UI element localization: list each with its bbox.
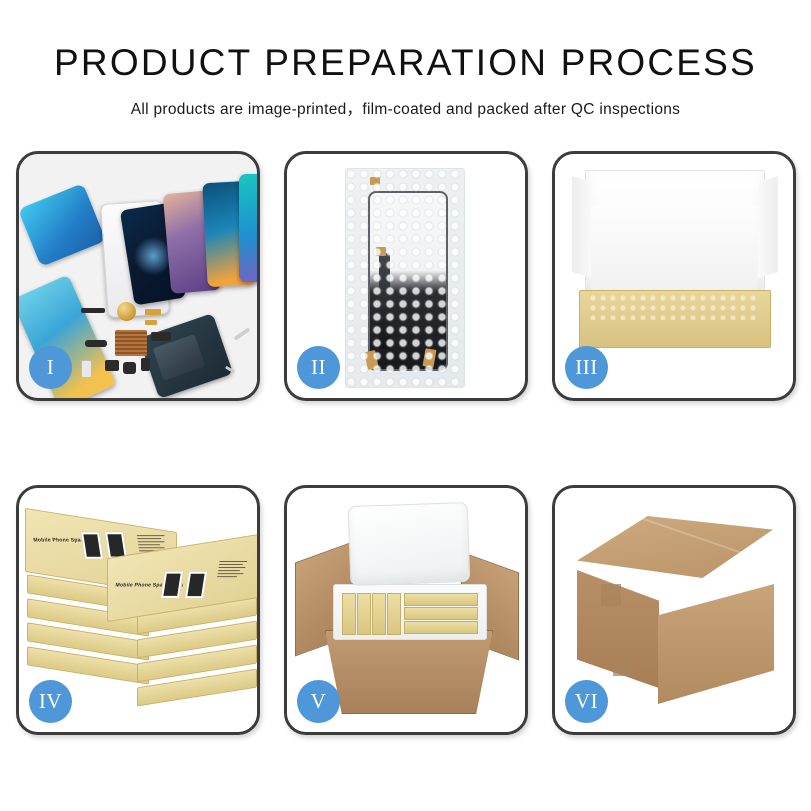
step-4-image: Mobile Phone Spare Parts Mobile Phone Sp… xyxy=(19,488,257,732)
packed-box-1 xyxy=(342,593,356,635)
small-board-component xyxy=(81,360,92,378)
box-thumbnail-2a xyxy=(160,571,184,599)
packed-box-6 xyxy=(404,607,478,620)
step-3-image: III xyxy=(555,154,793,398)
step-badge-1: I xyxy=(29,346,72,389)
sim-tray-component xyxy=(141,358,150,371)
process-step-6[interactable]: VI xyxy=(552,485,796,735)
process-step-grid: I II III xyxy=(16,151,796,735)
step-badge-6: VI xyxy=(565,680,608,723)
page-title: PRODUCT PREPARATION PROCESS xyxy=(0,44,811,83)
carton-top-face xyxy=(577,516,773,578)
screen-protector-film xyxy=(19,183,106,267)
flex-cable-1 xyxy=(145,309,161,315)
process-step-1[interactable]: I xyxy=(16,151,260,401)
carton-tape-patch-bottom xyxy=(613,660,633,676)
process-step-3[interactable]: III xyxy=(552,151,796,401)
packed-box-3 xyxy=(372,593,386,635)
packed-box-7 xyxy=(404,621,478,634)
speaker-component xyxy=(117,302,136,321)
step-2-image: II xyxy=(287,154,525,398)
process-step-2[interactable]: II xyxy=(284,151,528,401)
flex-cable-2 xyxy=(145,320,157,325)
page-subtitle: All products are image-printed，film-coat… xyxy=(0,97,811,119)
packed-box-4 xyxy=(387,593,401,635)
step-1-image: I xyxy=(19,154,257,398)
process-step-5[interactable]: V xyxy=(284,485,528,735)
camera-module xyxy=(105,360,119,371)
connector-component-1 xyxy=(85,340,107,347)
carton-right-face xyxy=(658,584,774,704)
page-header: PRODUCT PREPARATION PROCESS All products… xyxy=(0,0,811,119)
bubble-texture xyxy=(346,169,464,387)
packed-box-2 xyxy=(357,593,371,635)
connector-component-2 xyxy=(151,332,171,341)
step-badge-2: II xyxy=(297,346,340,389)
phone-teal-display xyxy=(239,174,257,282)
process-step-4[interactable]: Mobile Phone Spare Parts Mobile Phone Sp… xyxy=(16,485,260,735)
step-6-image: VI xyxy=(555,488,793,732)
bubble-wrapped-contents xyxy=(589,294,759,320)
box-thumbnail-2b xyxy=(184,571,208,599)
antenna-strip-component xyxy=(81,308,105,313)
step-badge-5: V xyxy=(297,680,340,723)
box-spec-lines-2 xyxy=(217,561,249,579)
box-thumbnail-1a xyxy=(80,531,104,559)
bubble-wrap-bag xyxy=(345,168,465,388)
vibrator-module xyxy=(123,362,136,374)
step-5-image: V xyxy=(287,488,525,732)
carton-tape-patch-top xyxy=(601,584,621,606)
tweezers-tool xyxy=(233,327,250,341)
packed-box-5 xyxy=(404,593,478,606)
carton-body xyxy=(325,630,493,714)
screw-grid-component xyxy=(115,330,147,356)
step-badge-3: III xyxy=(565,346,608,389)
foam-tray xyxy=(333,584,487,640)
phone-chassis-battery xyxy=(139,313,234,398)
step-badge-4: IV xyxy=(29,680,72,723)
foam-lid xyxy=(348,502,471,586)
foam-sheet xyxy=(591,206,757,290)
